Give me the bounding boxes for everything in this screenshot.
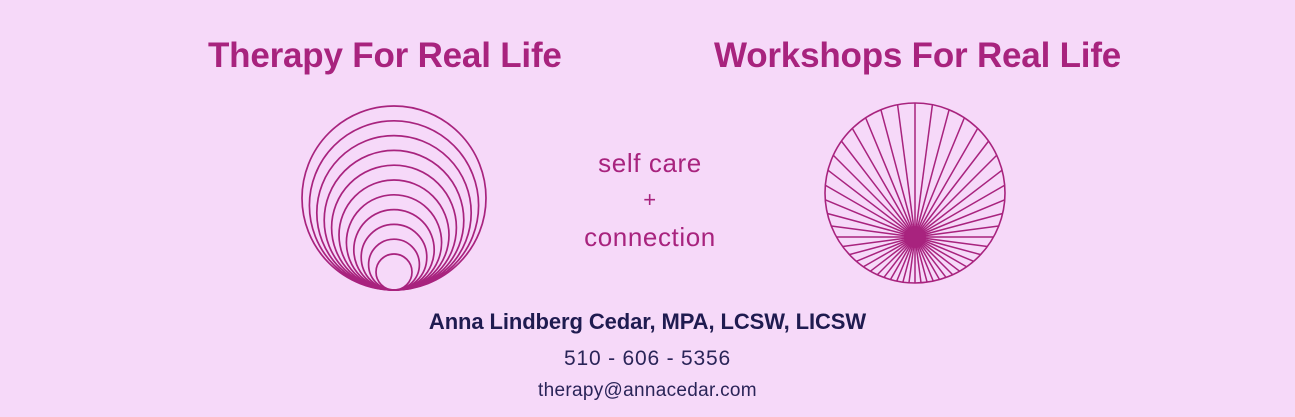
tagline-self-care-connection: self care + connection (540, 143, 760, 258)
nested-circles-logo (300, 104, 488, 292)
banner-root: Therapy For Real Life Workshops For Real… (0, 0, 1295, 417)
contact-phone[interactable]: 510 - 606 - 5356 (0, 344, 1295, 374)
tagline-line-2: connection (540, 217, 760, 257)
sunburst-ray (915, 214, 1003, 237)
sunburst-hub (904, 226, 926, 248)
heading-workshops-for-real-life: Workshops For Real Life (714, 38, 1121, 73)
sunburst-ray (827, 214, 915, 237)
practitioner-name: Anna Lindberg Cedar, MPA, LCSW, LICSW (0, 308, 1295, 336)
contact-email[interactable]: therapy@annacedar.com (0, 378, 1295, 405)
tagline-plus-symbol: + (540, 183, 760, 217)
sunburst-svg (823, 101, 1007, 285)
sunburst-logo (823, 101, 1007, 285)
heading-therapy-for-real-life: Therapy For Real Life (208, 38, 562, 73)
contact-block: Anna Lindberg Cedar, MPA, LCSW, LICSW 51… (0, 308, 1295, 405)
tagline-line-1: self care (540, 143, 760, 183)
nested-circles-svg (300, 104, 488, 292)
sunburst-ray (881, 110, 915, 237)
sunburst-ray (915, 110, 949, 237)
circle-group (302, 106, 486, 290)
sunburst-rays (825, 103, 1004, 283)
